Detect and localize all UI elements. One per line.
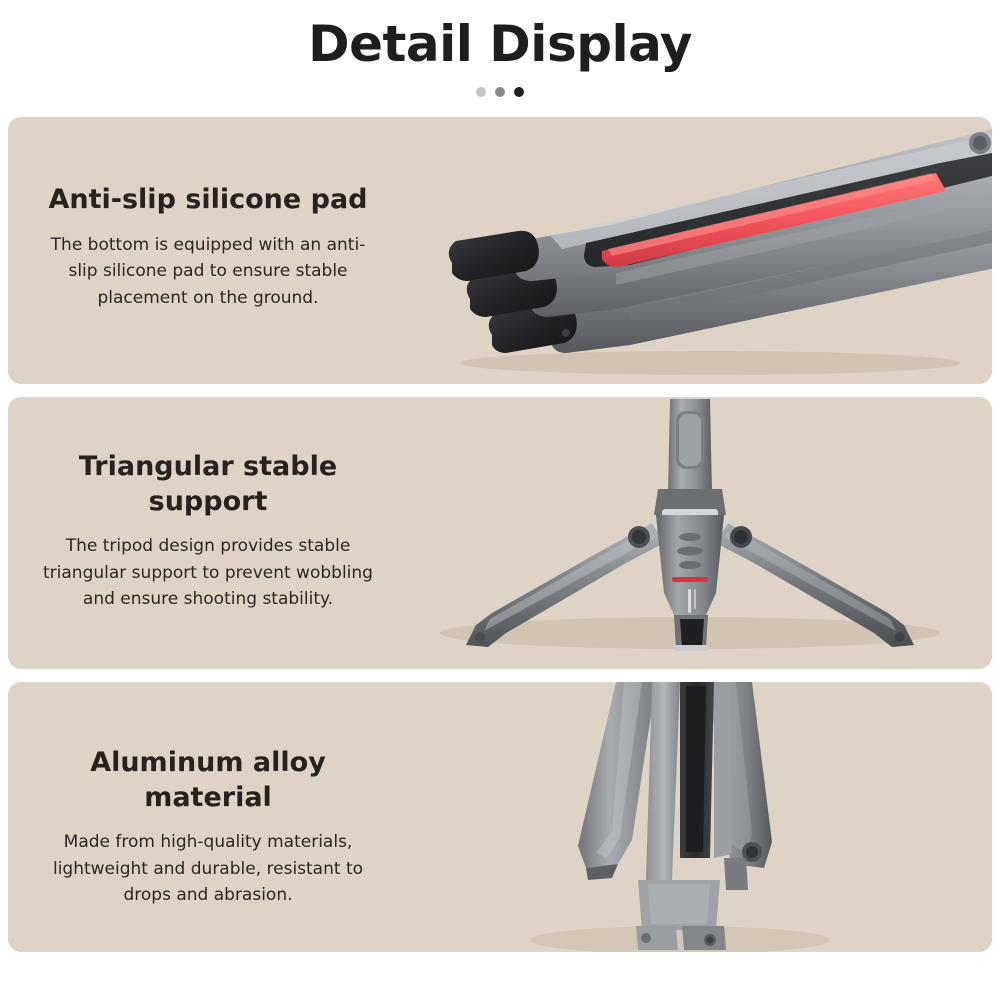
product-image-anti-slip-pad bbox=[388, 117, 992, 384]
feature-card-list: Anti-slip silicone pad The bottom is equ… bbox=[0, 117, 1000, 952]
page-header: Detail Display bbox=[0, 0, 1000, 98]
feature-card-triangular-support[interactable]: Triangular stable support The tripod des… bbox=[8, 397, 992, 669]
card-description: The bottom is equipped with an anti-slip… bbox=[43, 232, 373, 312]
card-description: The tripod design provides stable triang… bbox=[43, 533, 373, 613]
carousel-dots bbox=[0, 86, 1000, 98]
card-heading: Aluminum alloy material bbox=[43, 746, 373, 815]
card-heading: Anti-slip silicone pad bbox=[49, 183, 368, 218]
card-heading: Triangular stable support bbox=[43, 450, 373, 519]
card-description: Made from high-quality materials, lightw… bbox=[43, 829, 373, 909]
dot-1-icon[interactable] bbox=[476, 87, 486, 97]
card-text-block: Anti-slip silicone pad The bottom is equ… bbox=[8, 117, 408, 384]
card-text-block: Aluminum alloy material Made from high-q… bbox=[8, 682, 408, 952]
product-image-aluminum-alloy bbox=[388, 682, 992, 952]
product-image-triangular-support bbox=[388, 397, 992, 669]
feature-card-anti-slip-pad[interactable]: Anti-slip silicone pad The bottom is equ… bbox=[8, 117, 992, 384]
page-title: Detail Display bbox=[0, 18, 1000, 71]
dot-2-icon[interactable] bbox=[495, 87, 505, 97]
card-text-block: Triangular stable support The tripod des… bbox=[8, 397, 408, 669]
feature-card-aluminum-alloy[interactable]: Aluminum alloy material Made from high-q… bbox=[8, 682, 992, 952]
dot-3-icon[interactable] bbox=[514, 87, 524, 97]
